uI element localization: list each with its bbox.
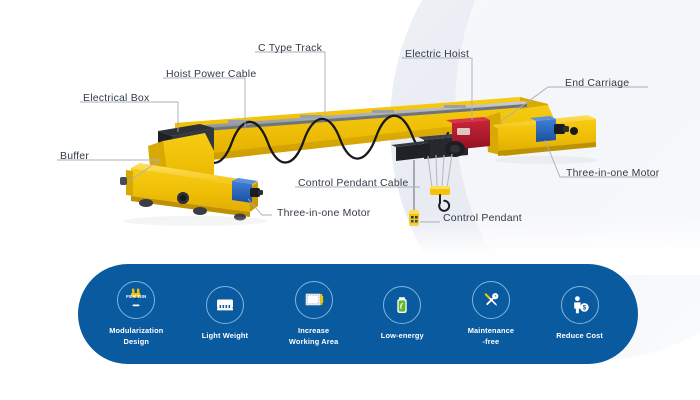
feature-bar: FEM/DIN Modularization Design bbox=[78, 264, 638, 364]
feature-label-maintenance-free: Maintenance -free bbox=[468, 326, 514, 347]
feature-label-line2: -free bbox=[468, 337, 514, 348]
feature-label-increase-working-area: Increase Working Area bbox=[289, 326, 338, 347]
leader-three-in-one-motor-left bbox=[248, 199, 272, 215]
callout-label-three-in-one-motor-left: Three-in-one Motor bbox=[277, 207, 370, 219]
feature-item-maintenance-free[interactable]: Maintenance -free bbox=[449, 281, 533, 347]
feature-label-line1: Reduce Cost bbox=[556, 331, 603, 340]
callout-label-electrical-box: Electrical Box bbox=[83, 92, 149, 104]
feature-label-low-energy: Low-energy bbox=[381, 331, 424, 342]
callout-label-hoist-power-cable: Hoist Power Cable bbox=[166, 68, 256, 80]
working-area-icon bbox=[295, 281, 333, 319]
callout-label-control-pendant-cable: Control Pendant Cable bbox=[298, 177, 408, 189]
person-coin-icon: $ bbox=[561, 286, 599, 324]
feature-label-line1: Low-energy bbox=[381, 331, 424, 340]
feature-label-line1: Light Weight bbox=[202, 331, 248, 340]
feature-item-modularization-design[interactable]: FEM/DIN Modularization Design bbox=[94, 281, 178, 347]
callout-leader-lines bbox=[0, 0, 700, 270]
battery-leaf-icon bbox=[383, 286, 421, 324]
feature-label-line1: Maintenance bbox=[468, 326, 514, 335]
leader-electrical-box bbox=[80, 102, 178, 132]
callout-label-three-in-one-motor-right: Three-in-one Motor bbox=[566, 167, 659, 179]
feature-label-light-weight: Light Weight bbox=[202, 331, 248, 342]
feature-item-reduce-cost[interactable]: $ Reduce Cost bbox=[538, 286, 622, 342]
feature-item-increase-working-area[interactable]: Increase Working Area bbox=[272, 281, 356, 347]
leader-end-carriage bbox=[500, 87, 648, 122]
callout-label-buffer: Buffer bbox=[60, 150, 89, 162]
fem-din-icon-text: FEM/DIN bbox=[118, 294, 154, 299]
feature-label-reduce-cost: Reduce Cost bbox=[556, 331, 603, 342]
weight-scale-icon bbox=[206, 286, 244, 324]
feature-label-line1: Modularization bbox=[109, 326, 163, 335]
callout-label-end-carriage: End Carriage bbox=[565, 77, 629, 89]
feature-label-line1: Increase bbox=[298, 326, 329, 335]
callout-label-control-pendant: Control Pendant bbox=[443, 212, 522, 224]
leader-c-type-track bbox=[255, 52, 325, 117]
leader-hoist-power-cable bbox=[163, 78, 245, 130]
callout-label-electric-hoist: Electric Hoist bbox=[405, 48, 469, 60]
wrench-screwdriver-icon bbox=[472, 281, 510, 319]
feature-item-light-weight[interactable]: Light Weight bbox=[183, 286, 267, 342]
diagram-stage: Electrical Box Hoist Power Cable C Type … bbox=[0, 0, 700, 400]
callout-label-c-type-track: C Type Track bbox=[258, 42, 322, 54]
leader-buffer bbox=[57, 160, 160, 182]
feature-label-modularization-design: Modularization Design bbox=[109, 326, 163, 347]
plug-fem-din-icon: FEM/DIN bbox=[117, 281, 155, 319]
leader-electric-hoist bbox=[402, 58, 472, 120]
feature-item-low-energy[interactable]: Low-energy bbox=[360, 286, 444, 342]
feature-label-line2: Design bbox=[109, 337, 163, 348]
feature-label-line2: Working Area bbox=[289, 337, 338, 348]
